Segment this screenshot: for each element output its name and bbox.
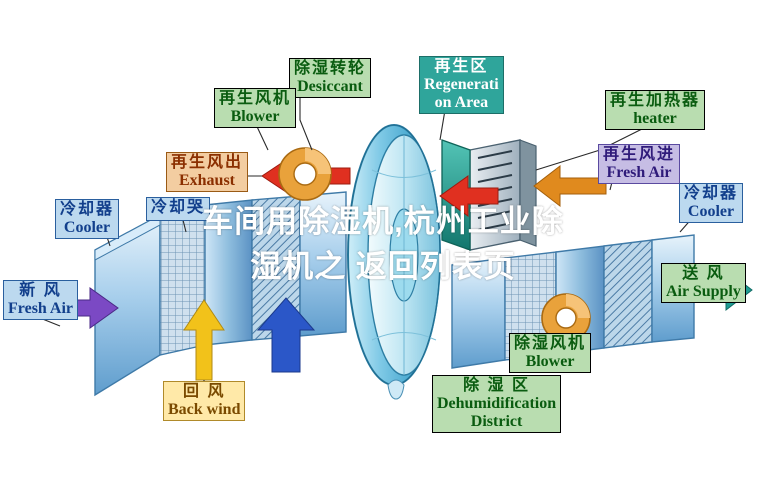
label-regeneration-exhaust-cn: 再生风出 (171, 154, 243, 172)
label-fresh-air: 新 风 Fresh Air (3, 280, 78, 320)
label-fresh-air-cn: 新 风 (8, 282, 73, 300)
label-regeneration-fresh-air-en: Fresh Air (603, 164, 675, 182)
label-dehumidification-district-en-line1: Dehumidification (437, 395, 556, 413)
label-cooler-right: 冷却器 Cooler (679, 183, 743, 223)
label-desiccant-wheel: 除湿转轮 Desiccant (289, 58, 371, 98)
label-regeneration-fresh-air: 再生风进 Fresh Air (598, 144, 680, 184)
label-back-wind-en: Back wind (168, 401, 240, 419)
label-regeneration-blower-en: Blower (219, 108, 291, 126)
label-cooler-left-en: Cooler (60, 219, 114, 237)
label-regeneration-heater: 再生加热器 heater (605, 90, 705, 130)
label-dehumidification-district: 除 湿 区 Dehumidification District (432, 375, 561, 433)
regeneration-blower-unit (279, 148, 331, 200)
page-title: 车间用除湿机,杭州工业除 湿机之 返回列表页 (118, 200, 648, 290)
label-air-supply: 送 风 Air Supply (661, 263, 746, 303)
label-dehumidification-district-cn: 除 湿 区 (437, 377, 556, 395)
label-regeneration-fresh-air-cn: 再生风进 (603, 146, 675, 164)
label-cooler-right-cn: 冷却器 (684, 185, 738, 203)
label-dehumidification-blower-cn: 除湿风机 (514, 335, 586, 353)
page-title-line2: 湿机之 返回列表页 (118, 245, 648, 290)
label-regeneration-exhaust: 再生风出 Exhaust (166, 152, 248, 192)
label-regeneration-area-en-line2: on Area (424, 94, 499, 112)
label-back-wind: 回 风 Back wind (163, 381, 245, 421)
label-dehumidification-blower: 除湿风机 Blower (509, 333, 591, 373)
label-dehumidification-district-en-line2: District (437, 413, 556, 431)
label-regeneration-blower: 再生风机 Blower (214, 88, 296, 128)
label-air-supply-en: Air Supply (666, 283, 741, 301)
label-regeneration-exhaust-en: Exhaust (171, 172, 243, 190)
label-air-supply-cn: 送 风 (666, 265, 741, 283)
label-regeneration-area-cn: 再生区 (424, 58, 499, 76)
label-regeneration-heater-en: heater (610, 110, 700, 128)
label-back-wind-cn: 回 风 (168, 383, 240, 401)
label-dehumidification-blower-en: Blower (514, 353, 586, 371)
label-cooler-left-cn: 冷却器 (60, 201, 114, 219)
page-title-line1: 车间用除湿机,杭州工业除 (118, 200, 648, 245)
label-regeneration-heater-cn: 再生加热器 (610, 92, 700, 110)
label-cooler-left: 冷却器 Cooler (55, 199, 119, 239)
diagram-canvas: 除湿转轮 Desiccant 再生区 Regenerati on Area 再生… (0, 0, 757, 488)
label-cooler-right-en: Cooler (684, 203, 738, 221)
label-regeneration-blower-cn: 再生风机 (219, 90, 291, 108)
label-fresh-air-en: Fresh Air (8, 300, 73, 318)
label-regeneration-area-en-line1: Regenerati (424, 76, 499, 94)
label-desiccant-wheel-cn: 除湿转轮 (294, 60, 366, 78)
label-desiccant-wheel-en: Desiccant (294, 78, 366, 96)
label-regeneration-area: 再生区 Regenerati on Area (419, 56, 504, 114)
